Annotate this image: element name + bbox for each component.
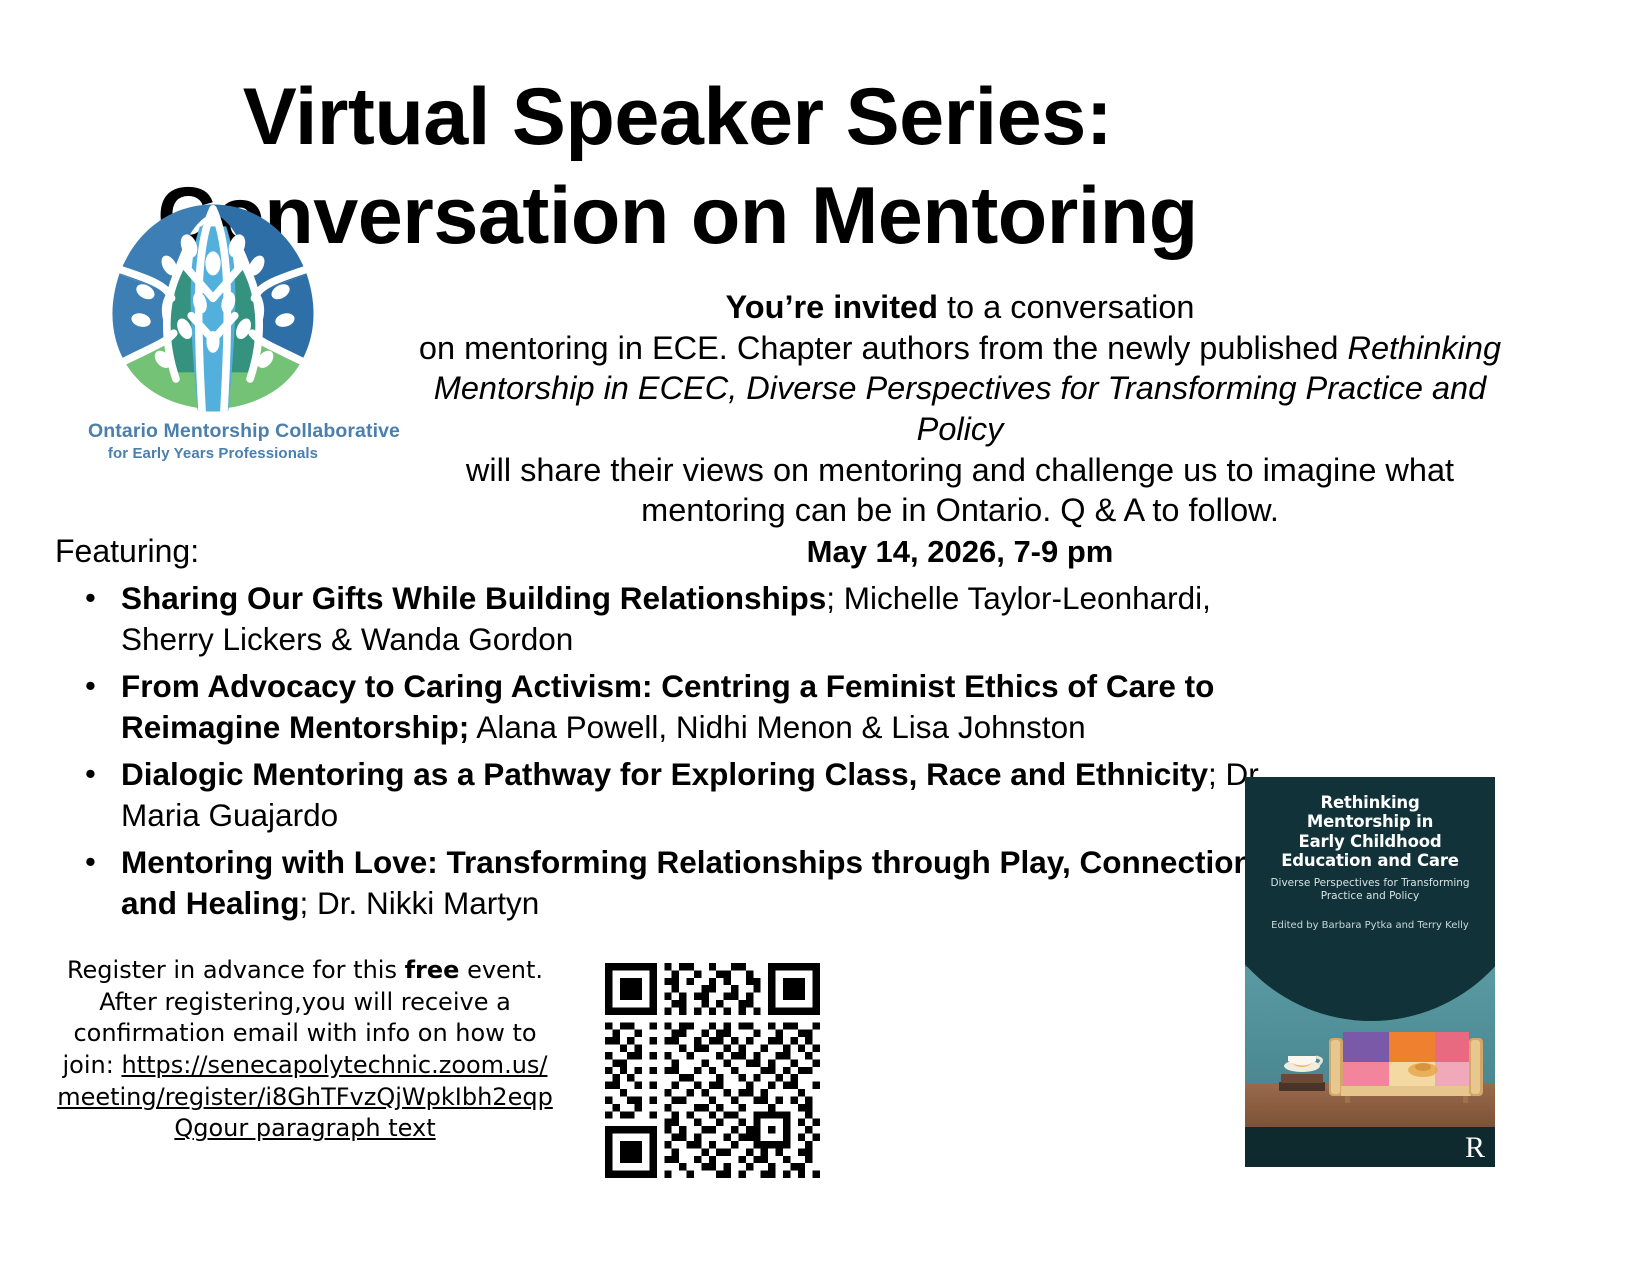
organization-logo: Ontario Mentorship Collaborative for Ear… [88, 198, 338, 462]
tree-circle-logo-icon [104, 198, 322, 416]
list-item: • From Advocacy to Caring Activism: Cent… [121, 666, 1296, 748]
intro-invited-rest: to a conversation [938, 289, 1195, 325]
book-cover-title: Rethinking Mentorship in Early Childhood… [1257, 793, 1483, 870]
book-cover-subtitle: Diverse Perspectives for Transforming Pr… [1267, 877, 1473, 903]
speaker-names: Alana Powell, Nidhi Menon & Lisa Johnsto… [469, 709, 1085, 745]
poster-canvas: Virtual Speaker Series: Conversation on … [0, 0, 1650, 1275]
speaker-list: • Sharing Our Gifts While Building Relat… [63, 578, 1296, 930]
qr-code-image [605, 963, 820, 1178]
book-title-line-4: Education and Care [1281, 851, 1459, 870]
qr-code[interactable] [605, 963, 820, 1178]
bullet-icon: • [85, 754, 96, 794]
bullet-icon: • [85, 578, 96, 618]
logo-tagline: for Early Years Professionals [88, 445, 338, 462]
register-line1-pre: Register in advance for this [67, 956, 405, 984]
logo-organization-name: Ontario Mentorship Collaborative [88, 420, 338, 443]
book-cover-editors: Edited by Barbara Pytka and Terry Kelly [1267, 919, 1473, 932]
register-line1-post: event. [459, 956, 543, 984]
featuring-label: Featuring: [55, 533, 199, 570]
publisher-bar: R [1245, 1127, 1495, 1167]
book-title-line-1: Rethinking [1320, 793, 1419, 812]
list-item: • Sharing Our Gifts While Building Relat… [121, 578, 1296, 660]
speaker-chapter-title: Dialogic Mentoring as a Pathway for Expl… [121, 756, 1208, 792]
event-date: May 14, 2026, 7-9 pm [807, 534, 1114, 569]
speaker-chapter-title: Mentoring with Love: Transforming Relati… [121, 844, 1261, 921]
book-title-line-3: Early Childhood [1299, 832, 1442, 851]
registration-link[interactable]: https://senecapolytechnic.zoom.us/meetin… [57, 1051, 553, 1142]
speaker-chapter-title: Sharing Our Gifts While Building Relatio… [121, 580, 826, 616]
book-title-line-2: Mentorship in [1307, 812, 1433, 831]
book-cover: Rethinking Mentorship in Early Childhood… [1245, 777, 1495, 1167]
speaker-names: ; Dr. Nikki Martyn [300, 885, 540, 921]
intro-line3: will share their views on mentoring and … [466, 452, 1454, 529]
registration-info: Register in advance for this free event.… [55, 955, 555, 1145]
intro-paragraph: You’re invited to a conversation on ment… [400, 287, 1520, 572]
list-item: • Mentoring with Love: Transforming Rela… [121, 842, 1296, 924]
list-item: • Dialogic Mentoring as a Pathway for Ex… [121, 754, 1296, 836]
register-free-word: free [405, 956, 460, 984]
bullet-icon: • [85, 842, 96, 882]
intro-line2: on mentoring in ECE. Chapter authors fro… [419, 330, 1348, 366]
bullet-icon: • [85, 666, 96, 706]
routledge-logo-icon: R [1465, 1133, 1485, 1163]
intro-invited-bold: You’re invited [725, 289, 938, 325]
